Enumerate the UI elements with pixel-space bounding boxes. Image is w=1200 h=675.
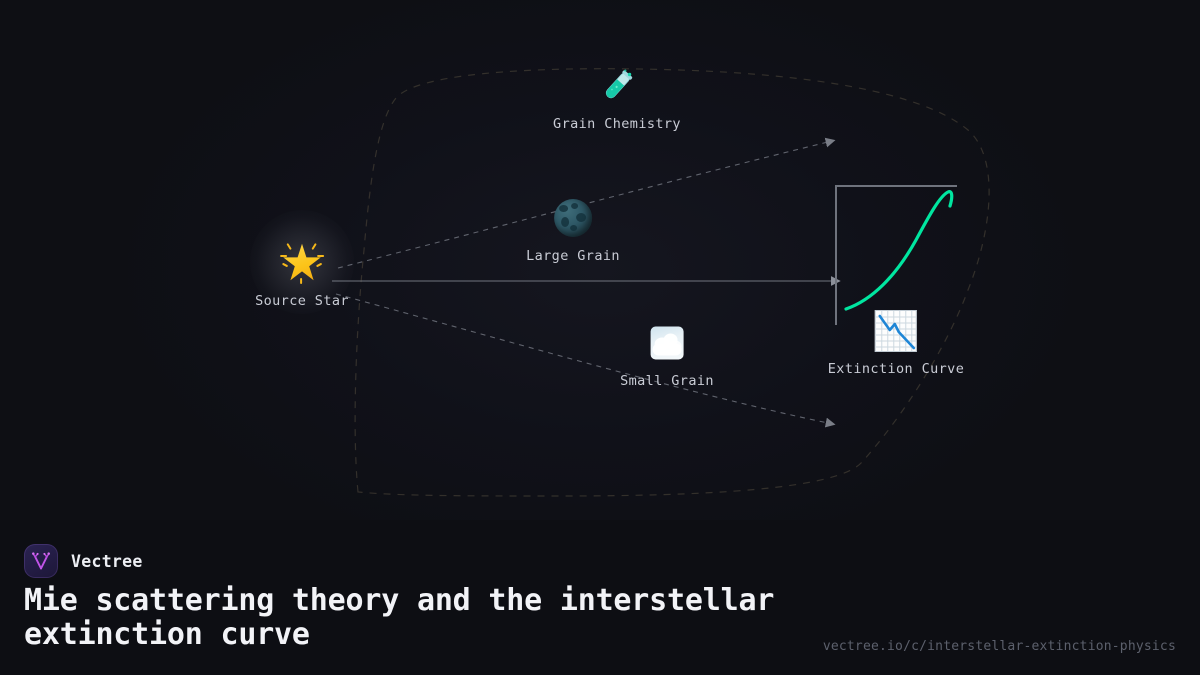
node-large-grain[interactable]: Large Grain — [526, 200, 620, 264]
node-extinction-curve[interactable]: Extinction Curve — [828, 313, 964, 377]
brand-name: Vectree — [71, 552, 143, 571]
node-label: Grain Chemistry — [553, 116, 681, 132]
node-small-grain[interactable]: Small Grain — [620, 325, 714, 389]
node-label: Small Grain — [620, 373, 714, 389]
star-icon — [284, 245, 320, 281]
node-label: Large Grain — [526, 248, 620, 264]
planet-icon — [555, 200, 591, 236]
node-grain-chemistry[interactable]: Grain Chemistry — [553, 68, 681, 132]
extinction-curve-plot-line — [846, 192, 952, 309]
fog-icon — [649, 325, 685, 361]
page-title: Mie scattering theory and the interstell… — [24, 584, 784, 651]
footer: Vectree Mie scattering theory and the in… — [0, 520, 1200, 675]
node-label: Source Star — [255, 293, 349, 309]
node-label: Extinction Curve — [828, 361, 964, 377]
chart-decreasing-icon — [878, 313, 914, 349]
diagram-canvas[interactable]: Grain Chemistry Large Grain Sour — [0, 0, 1200, 520]
edge-star-to-small-grain — [336, 294, 828, 423]
cluster-boundary — [355, 69, 989, 496]
node-source-star[interactable]: Source Star — [255, 245, 349, 309]
vectree-logo-icon — [24, 544, 58, 578]
footer-url: vectree.io/c/interstellar-extinction-phy… — [823, 639, 1176, 654]
test-tube-icon — [599, 68, 635, 104]
brand-row[interactable]: Vectree — [24, 544, 143, 578]
